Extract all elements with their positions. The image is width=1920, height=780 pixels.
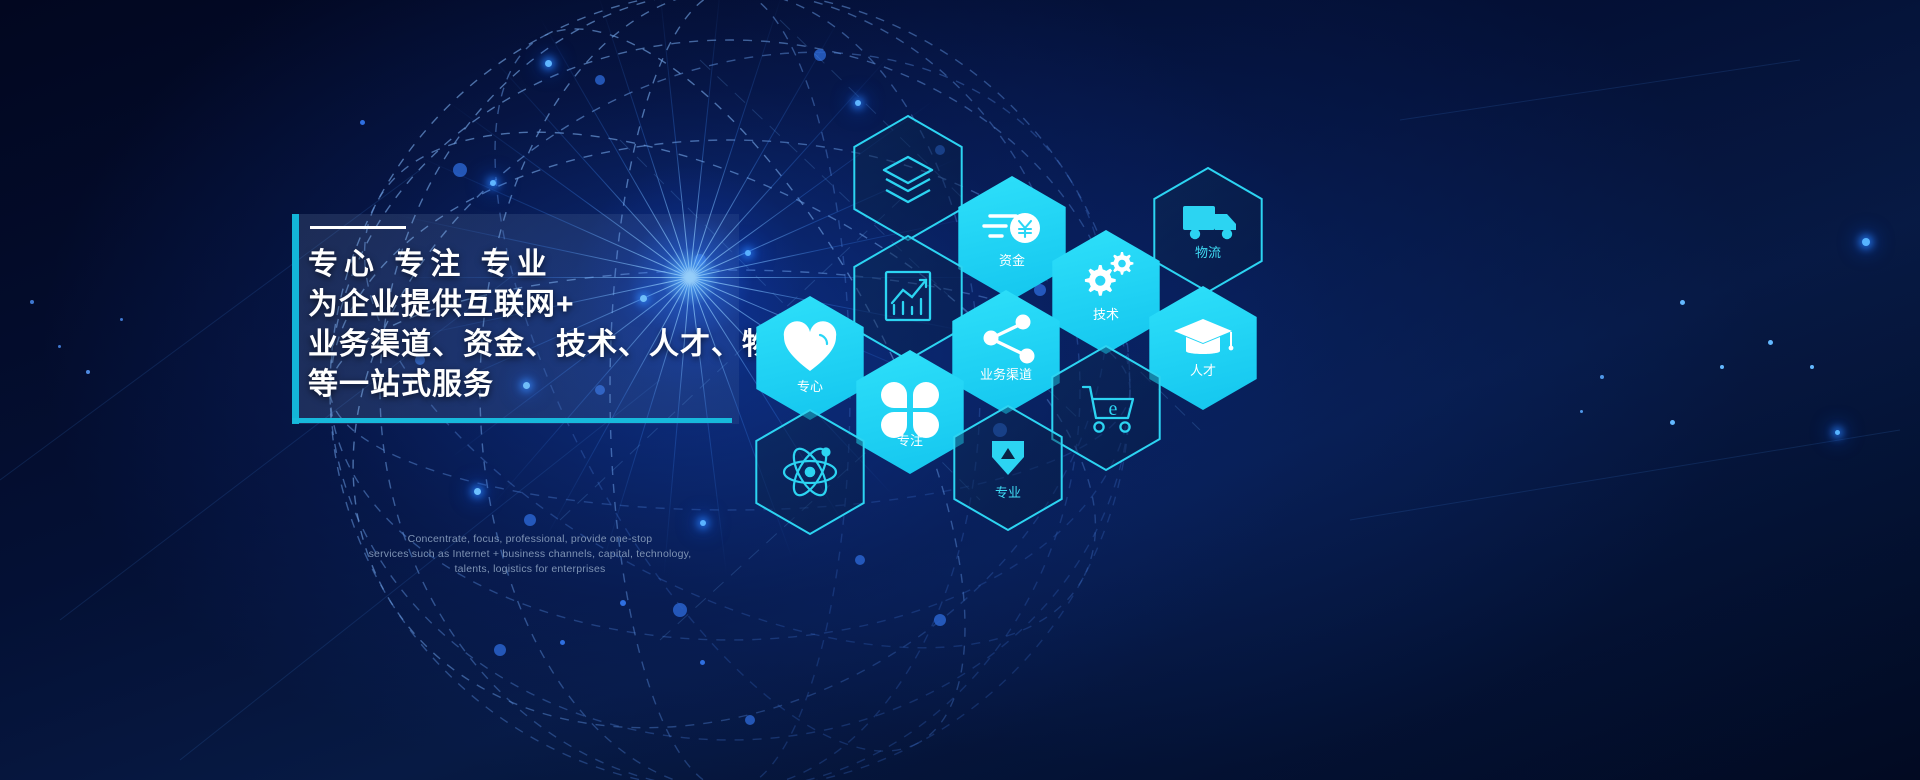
hex-funds[interactable]: 资金 [958,176,1065,300]
headline-rule [310,226,406,229]
hex-talents[interactable]: 人才 [1149,286,1256,410]
headline-line-1: 专心 专注 专业 [308,245,778,285]
headline-panel-underline [292,418,732,423]
headline-line-4: 等一站式服务 [308,365,778,405]
ecommerce-e-glyph: e [1109,398,1118,420]
subtext-line-2: services such as Internet + business cha… [330,547,730,562]
headline-line-3: 业务渠道、资金、技术、人才、物流 [308,325,778,365]
hex-atom[interactable] [756,410,863,534]
hexagon-cluster: 资金 物流 [740,100,1300,540]
hex-dedicate[interactable]: 专注 [856,350,963,474]
hex-ecommerce[interactable]: e [1052,346,1159,470]
hex-focus-label: 专心 [797,379,823,394]
hex-logistics-label: 物流 [1195,245,1221,260]
hex-tech[interactable]: 技术 [1052,230,1159,354]
hex-funds-label: 资金 [999,253,1025,268]
hex-channels-label: 业务渠道 [980,367,1032,382]
subtext-line-1: Concentrate, focus, professional, provid… [330,532,730,547]
hex-focus[interactable]: 专心 [756,296,863,420]
hex-pro-label: 专业 [995,485,1021,500]
headline-line-2: 为企业提供互联网+ [308,285,778,325]
subtext-line-3: talents, logistics for enterprises [330,562,730,577]
hero-banner: 专心 专注 专业 为企业提供互联网+ 业务渠道、资金、技术、人才、物流 等一站式… [0,0,1920,780]
hex-dedicate-label: 专注 [897,433,923,448]
hex-channels[interactable]: 业务渠道 [952,290,1059,414]
subtext-block: Concentrate, focus, professional, provid… [330,532,730,577]
hex-layers[interactable] [854,116,961,240]
hex-pro[interactable]: 专业 [954,406,1061,530]
hex-logistics[interactable]: 物流 [1154,168,1261,292]
hex-tech-label: 技术 [1093,307,1119,322]
hex-talents-label: 人才 [1190,363,1216,378]
hex-chart[interactable] [854,236,961,360]
headline-block: 专心 专注 专业 为企业提供互联网+ 业务渠道、资金、技术、人才、物流 等一站式… [308,226,778,405]
